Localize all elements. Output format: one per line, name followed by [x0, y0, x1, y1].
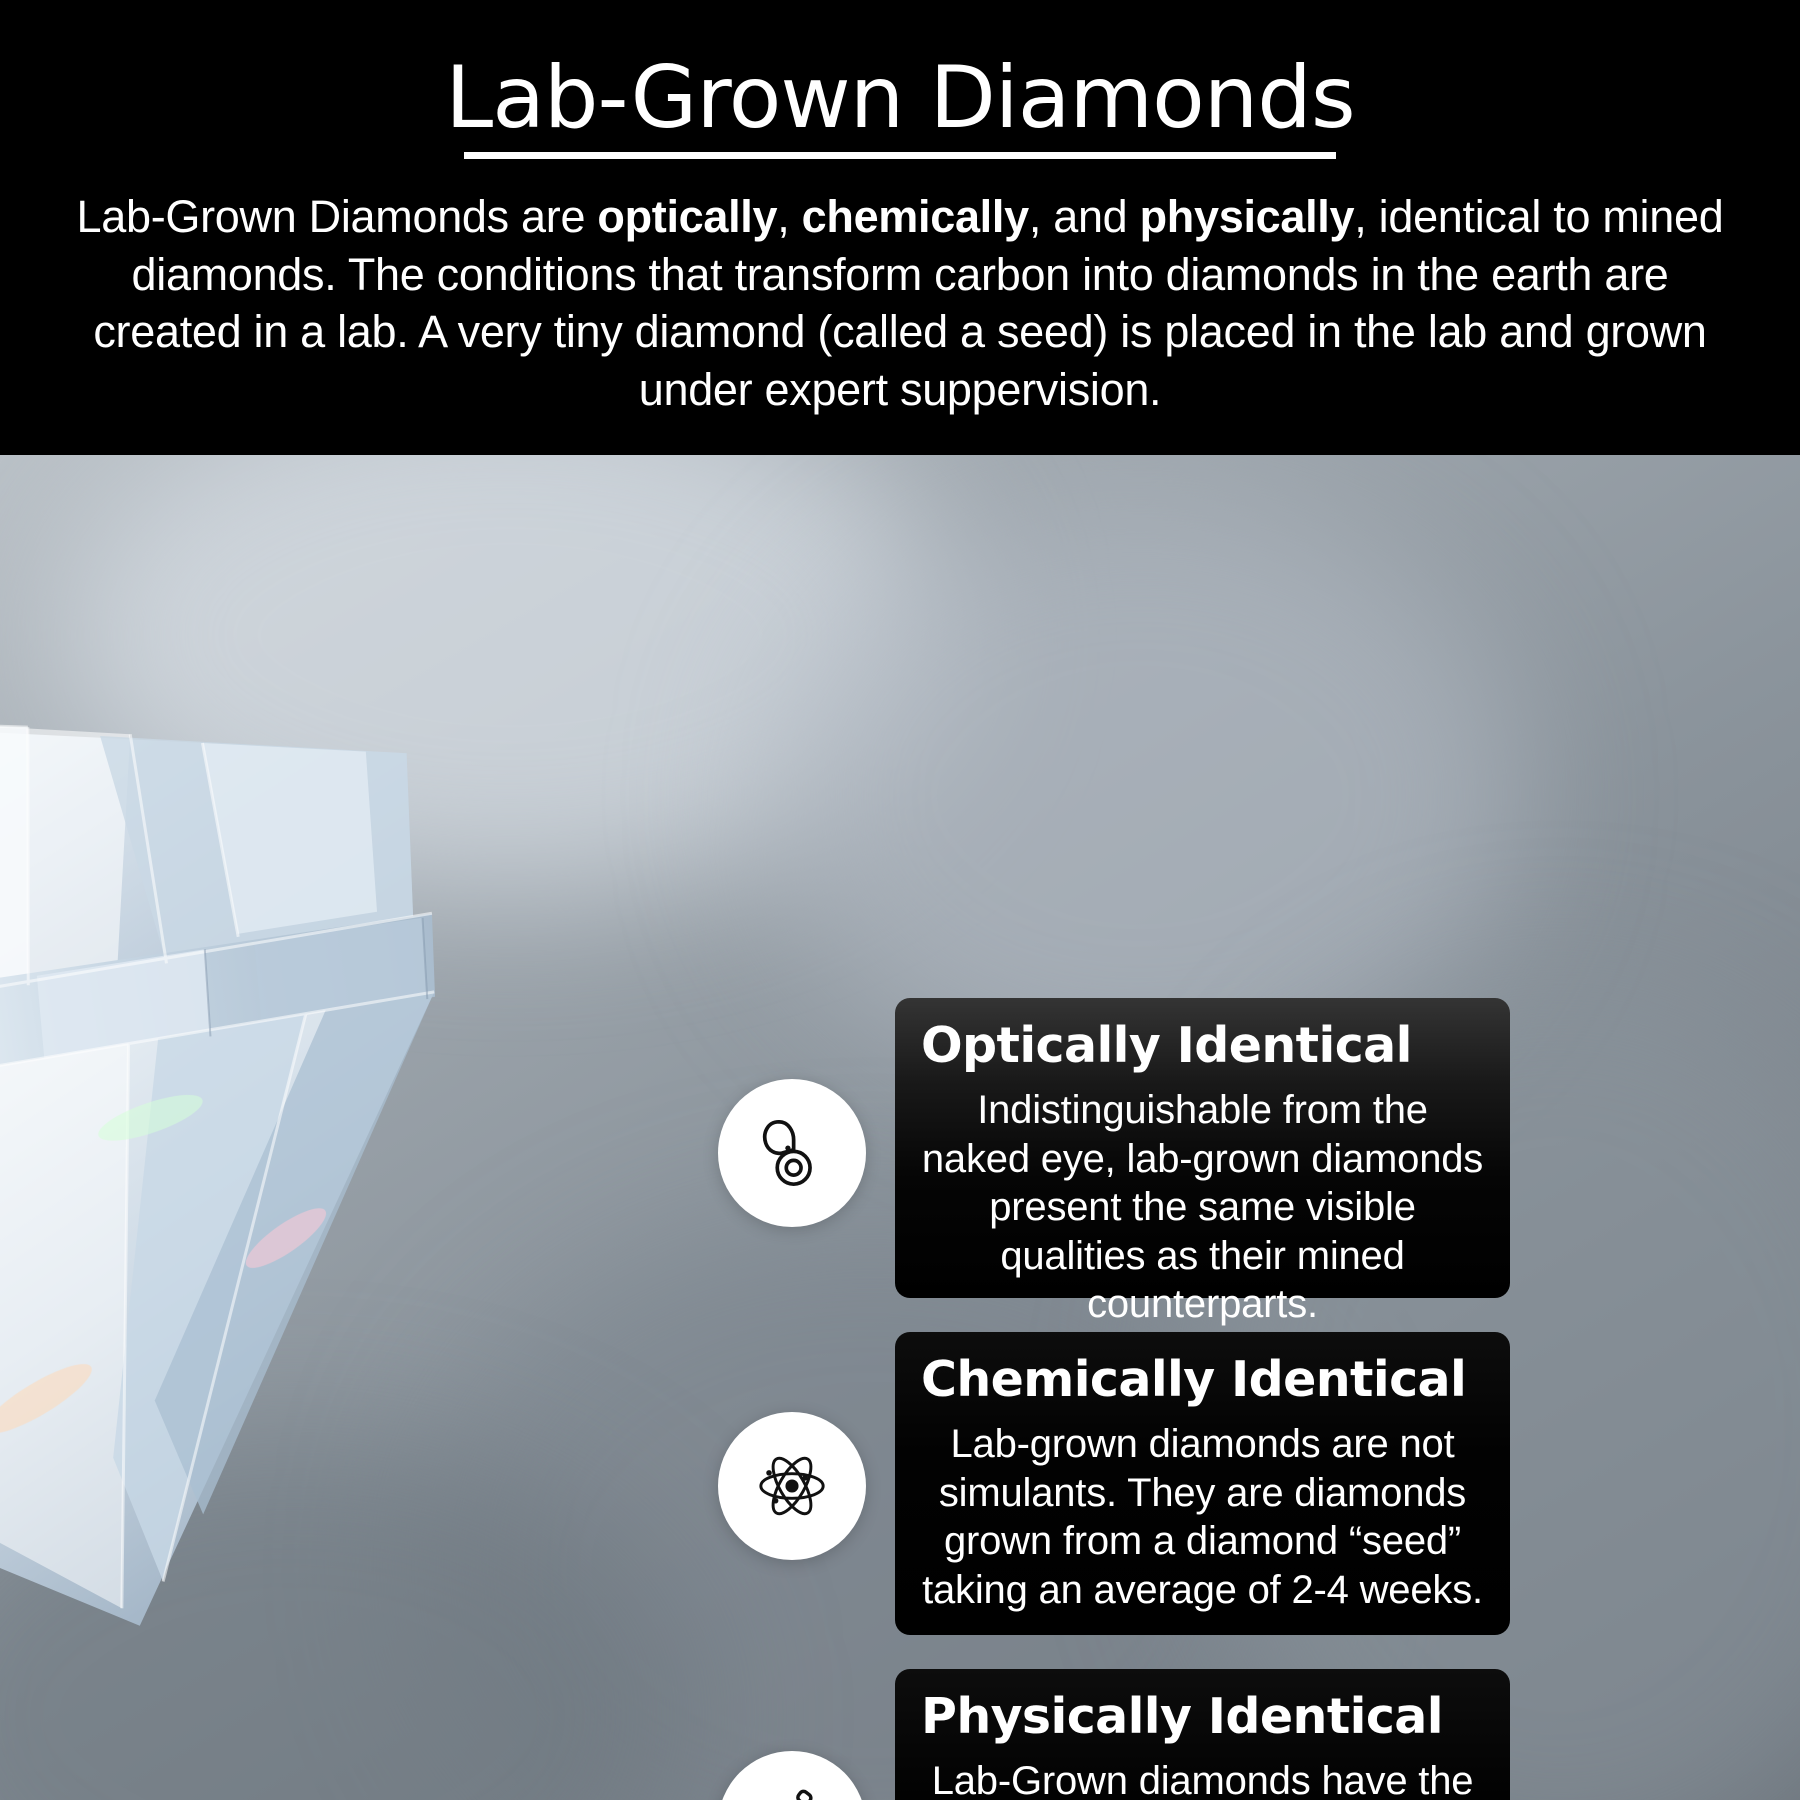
- title-underline: [464, 152, 1336, 159]
- microscope-icon-badge: [718, 1751, 866, 1800]
- atom-icon: [751, 1445, 833, 1527]
- card-chemically-identical: Chemically Identical Lab-grown diamonds …: [895, 1332, 1510, 1635]
- card-title: Chemically Identical: [921, 1354, 1484, 1406]
- header-band: Lab-Grown Diamonds Lab-Grown Diamonds ar…: [0, 0, 1800, 455]
- card-physically-identical: Physically Identical Lab-Grown diamonds …: [895, 1669, 1510, 1800]
- card-body: Lab-grown diamonds are not simulants. Th…: [921, 1420, 1484, 1614]
- diamond-photo-area: Optically Identical Indistinguishable fr…: [0, 455, 1800, 1800]
- eye-magnifier-icon-badge: [718, 1079, 866, 1227]
- microscope-icon: [751, 1784, 833, 1800]
- infographic-page: Lab-Grown Diamonds Lab-Grown Diamonds ar…: [0, 0, 1800, 1800]
- intro-paragraph: Lab-Grown Diamonds are optically, chemic…: [60, 188, 1740, 418]
- page-title: Lab-Grown Diamonds: [0, 52, 1800, 145]
- atom-icon-badge: [718, 1412, 866, 1560]
- card-title: Optically Identical: [921, 1020, 1484, 1072]
- card-body: Lab-Grown diamonds have the exact same p…: [921, 1757, 1484, 1800]
- card-title: Physically Identical: [921, 1691, 1484, 1743]
- eye-magnifier-icon: [751, 1112, 833, 1194]
- card-optically-identical: Optically Identical Indistinguishable fr…: [895, 998, 1510, 1298]
- card-body: Indistinguishable from the naked eye, la…: [921, 1086, 1484, 1329]
